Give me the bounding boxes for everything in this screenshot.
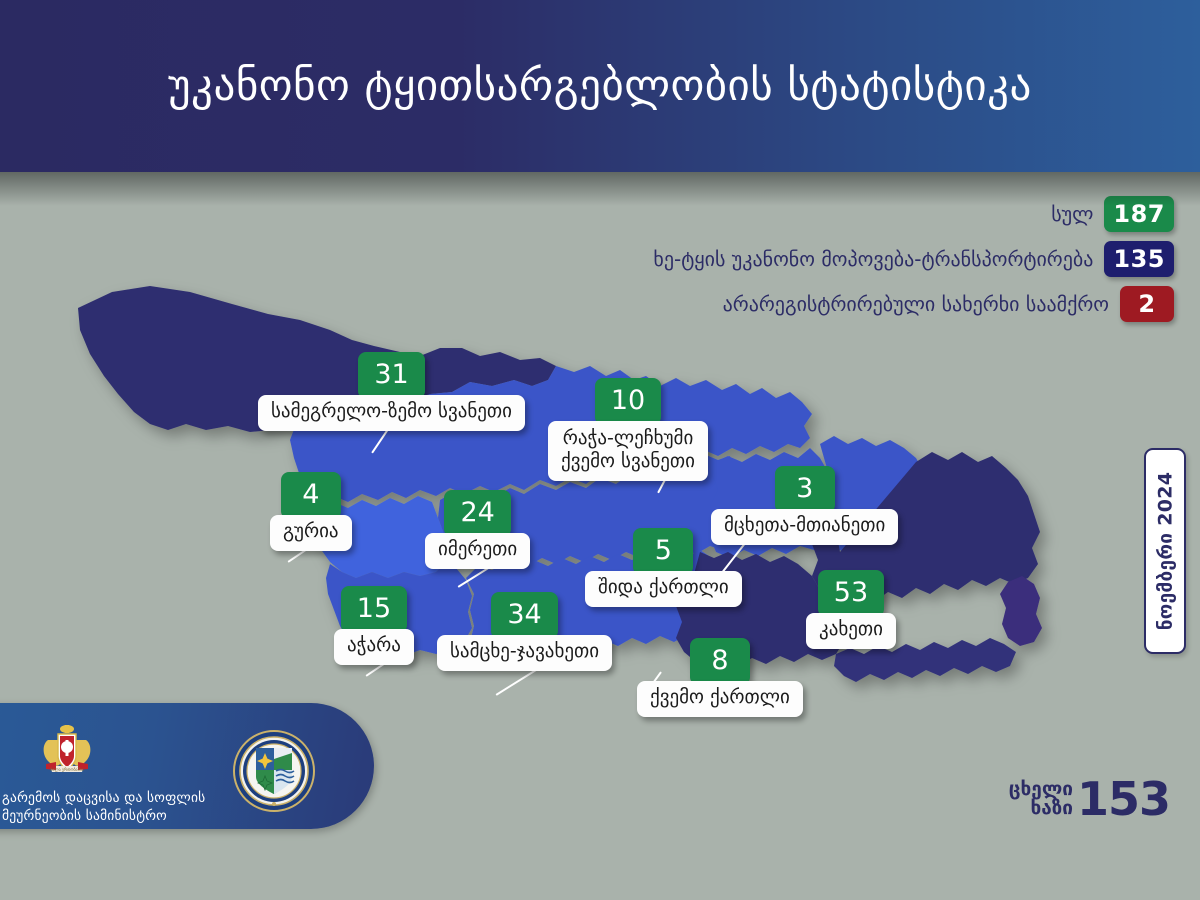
date-badge: ნოემბერი 2024 — [1144, 448, 1186, 654]
marker-kvemo-kartli[interactable]: 8 ქვემო ქართლი — [637, 638, 803, 717]
marker-value-samtskhe: 34 — [491, 592, 557, 639]
marker-samegrelo-zemo-svaneti[interactable]: 31 სამეგრელო-ზემო სვანეთი — [258, 352, 525, 431]
legend-label-logging: ხე-ტყის უკანონო მოპოვება-ტრანსპორტირება — [653, 249, 1093, 269]
region-far-east-accent — [1000, 576, 1042, 646]
page-title: უკანონო ტყითსარგებლობის სტატისტიკა — [168, 65, 1032, 108]
legend-chip-logging: 135 — [1104, 241, 1174, 277]
marker-label-guria: გურია — [270, 515, 352, 551]
marker-label-samtskhe: სამცხე-ჯავახეთი — [437, 635, 612, 671]
marker-value-shida-kartli: 5 — [633, 528, 693, 575]
hotline-word-2: ხაზი — [1009, 799, 1073, 818]
svg-text:ძალა ერთობაშია: ძალა ერთობაშია — [50, 767, 84, 772]
hotline-words: ცხელი ხაზი — [1009, 780, 1073, 819]
marker-samtskhe-javakheti[interactable]: 34 სამცხე-ჯავახეთი — [437, 592, 612, 671]
hotline: ცხელი ხაზი 153 — [1009, 778, 1170, 820]
marker-label-samegrelo: სამეგრელო-ზემო სვანეთი — [258, 395, 525, 431]
ministry-seal-icon — [232, 729, 316, 813]
infographic-canvas: უკანონო ტყითსარგებლობის სტატისტიკა სულ 1… — [0, 0, 1200, 900]
legend-row-total: სულ 187 — [1051, 196, 1174, 232]
marker-value-kvemo-kartli: 8 — [690, 638, 750, 685]
ministry-name-line2: მეურნეობის სამინისტრო — [2, 807, 232, 825]
marker-kakheti[interactable]: 53 კახეთი — [806, 570, 896, 649]
legend-row-logging: ხე-ტყის უკანონო მოპოვება-ტრანსპორტირება … — [653, 241, 1174, 277]
legend-chip-sawmill: 2 — [1120, 286, 1174, 322]
marker-label-kakheti: კახეთი — [806, 613, 896, 649]
marker-value-kakheti: 53 — [818, 570, 884, 617]
marker-label-racha: რაჭა-ლეჩხუმიქვემო სვანეთი — [548, 421, 708, 481]
footer-ministry-bar: ძალა ერთობაშია გარემოს დაცვისა და სოფლის… — [0, 703, 374, 829]
legend-chip-total: 187 — [1104, 196, 1174, 232]
marker-value-guria: 4 — [281, 472, 341, 519]
legend-label-total: სულ — [1051, 204, 1093, 224]
hotline-number: 153 — [1077, 778, 1170, 820]
legend: სულ 187 ხე-ტყის უკანონო მოპოვება-ტრანსპო… — [653, 196, 1174, 322]
date-badge-label: ნოემბერი 2024 — [1154, 472, 1176, 631]
marker-label-imereti: იმერეთი — [425, 533, 530, 569]
marker-imereti[interactable]: 24 იმერეთი — [425, 490, 530, 569]
marker-value-mtskheta: 3 — [775, 466, 835, 513]
legend-row-sawmill: არარეგისტრირებული სახერხი საამქრო 2 — [723, 286, 1174, 322]
legend-label-sawmill: არარეგისტრირებული სახერხი საამქრო — [723, 294, 1109, 314]
marker-value-racha: 10 — [595, 378, 661, 425]
ministry-name: გარემოს დაცვისა და სოფლის მეურნეობის სამ… — [2, 789, 232, 825]
marker-adjara[interactable]: 15 აჭარა — [334, 586, 414, 665]
ministry-name-line1: გარემოს დაცვისა და სოფლის — [2, 789, 232, 807]
marker-value-samegrelo: 31 — [358, 352, 424, 399]
marker-label-kvemo-kartli: ქვემო ქართლი — [637, 681, 803, 717]
header-banner: უკანონო ტყითსარგებლობის სტატისტიკა — [0, 0, 1200, 172]
marker-racha-lechkhumi[interactable]: 10 რაჭა-ლეჩხუმიქვემო სვანეთი — [548, 378, 708, 481]
marker-label-adjara: აჭარა — [334, 629, 414, 665]
marker-guria[interactable]: 4 გურია — [270, 472, 352, 551]
marker-value-imereti: 24 — [444, 490, 510, 537]
marker-value-adjara: 15 — [341, 586, 407, 633]
georgia-coat-of-arms-icon: ძალა ერთობაშია — [36, 720, 98, 782]
